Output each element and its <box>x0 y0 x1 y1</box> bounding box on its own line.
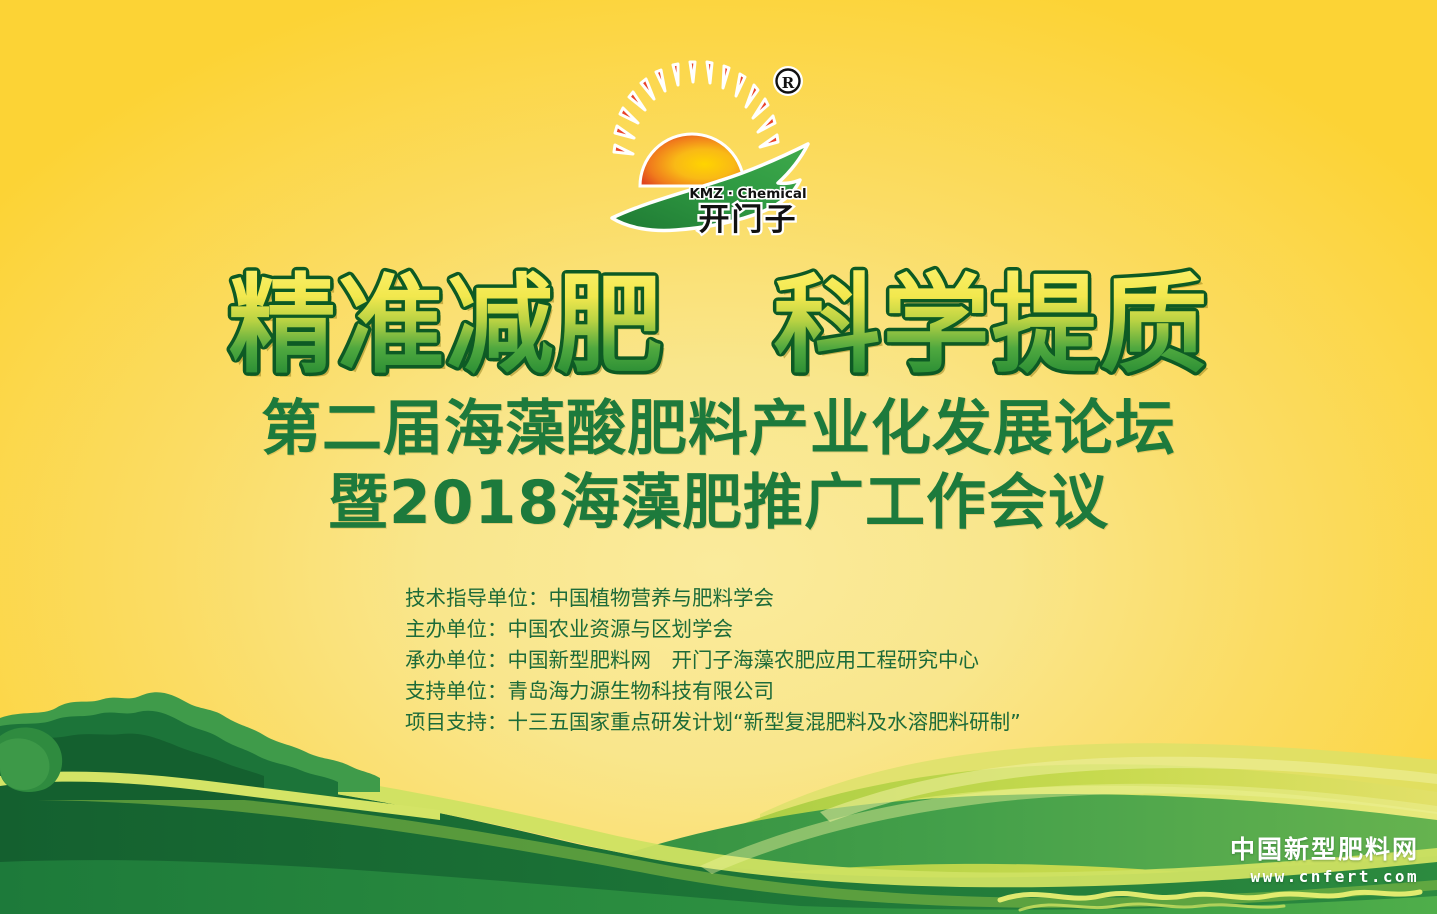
detail-line-organizer: 承办单位：中国新型肥料网 开门子海藻农肥应用工程研究中心 <box>405 645 1021 675</box>
site-watermark: 中国新型肥料网 www.cnfert.com <box>1230 836 1419 888</box>
detail-line-technical-guidance: 技术指导单位：中国植物营养与肥料学会 <box>405 583 1021 613</box>
watermark-site-url: www.cnfert.com <box>1230 866 1419 888</box>
organizer-details: 技术指导单位：中国植物营养与肥料学会 主办单位：中国农业资源与区划学会 承办单位… <box>405 583 1021 737</box>
subtitle-line-1: 第二届海藻酸肥料产业化发展论坛 <box>0 398 1437 462</box>
detail-line-supporter: 支持单位：青岛海力源生物科技有限公司 <box>405 676 1021 706</box>
svg-text:R: R <box>781 74 794 92</box>
detail-line-host: 主办单位：中国农业资源与区划学会 <box>405 614 1021 644</box>
logo-brand-cn: 开门子 <box>698 202 797 238</box>
event-subtitles: 第二届海藻酸肥料产业化发展论坛 暨2018海藻肥推广工作会议 <box>0 398 1437 535</box>
detail-line-project-support: 项目支持：十三五国家重点研发计划“新型复混肥料及水溶肥料研制” <box>405 707 1021 737</box>
logo-brand-en: KMZ · Chemical <box>689 186 806 202</box>
watermark-site-name: 中国新型肥料网 <box>1230 836 1419 864</box>
kmz-chemical-logo-mark: R KMZ · Chemical 开门子 <box>594 52 844 242</box>
registered-trademark-icon: R <box>773 66 803 96</box>
company-logo: R KMZ · Chemical 开门子 <box>594 52 844 242</box>
conference-poster: R KMZ · Chemical 开门子 精准减肥 科学提质 精准 <box>0 0 1437 914</box>
subtitle-line-2: 暨2018海藻肥推广工作会议 <box>0 472 1437 536</box>
